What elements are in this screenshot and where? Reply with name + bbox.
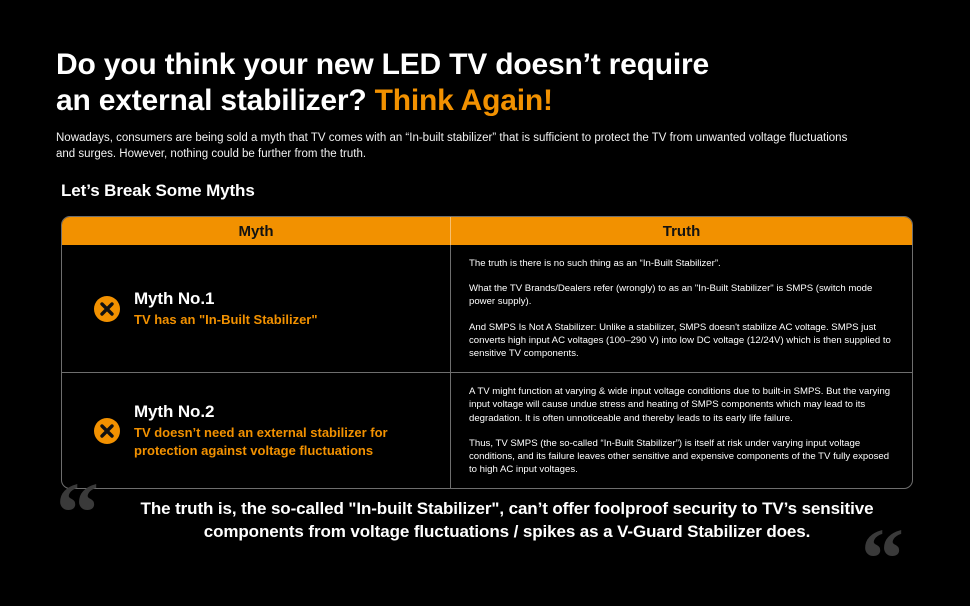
table-row: Myth No.2 TV doesn’t need an external st… — [62, 372, 912, 488]
truth-paragraph: And SMPS Is Not A Stabilizer: Unlike a s… — [469, 321, 898, 361]
intro-paragraph: Nowadays, consumers are being sold a myt… — [56, 130, 868, 162]
myth-text-block: Myth No.2 TV doesn’t need an external st… — [134, 401, 434, 460]
table-row: Myth No.1 TV has an "In-Built Stabilizer… — [62, 245, 912, 372]
myth-subtitle: TV doesn’t need an external stabilizer f… — [134, 424, 434, 460]
truth-paragraph: Thus, TV SMPS (the so-called “In-Built S… — [469, 437, 898, 477]
myth-title: Myth No.2 — [134, 401, 434, 422]
headline-accent: Think Again! — [375, 84, 553, 117]
table-header-row: Myth Truth — [62, 217, 912, 245]
column-header-truth: Truth — [451, 217, 912, 245]
truth-paragraph: What the TV Brands/Dealers refer (wrongl… — [469, 282, 898, 308]
myth-text-block: Myth No.1 TV has an "In-Built Stabilizer… — [134, 288, 318, 329]
headline-line-2-prefix: an external stabilizer? — [56, 84, 375, 117]
x-circle-icon — [94, 296, 120, 322]
myth-truth-table: Myth Truth Myth No.1 TV has an "In-Built… — [61, 216, 913, 489]
truth-cell: The truth is there is no such thing as a… — [451, 245, 912, 372]
headline-line-2: an external stabilizer? Think Again! — [56, 83, 906, 119]
quote-open-mark: “ — [56, 469, 99, 555]
column-header-myth: Myth — [62, 217, 451, 245]
quote-block: “ The truth is, the so-called "In-built … — [56, 485, 926, 585]
x-circle-icon — [94, 418, 120, 444]
section-heading: Let’s Break Some Myths — [61, 181, 255, 201]
myth-cell: Myth No.1 TV has an "In-Built Stabilizer… — [62, 245, 451, 372]
truth-cell: A TV might function at varying & wide in… — [451, 373, 912, 488]
quote-close-mark: “ — [861, 515, 904, 601]
myth-subtitle: TV has an "In-Built Stabilizer" — [134, 311, 318, 329]
truth-paragraph: The truth is there is no such thing as a… — [469, 257, 898, 270]
headline-line-1: Do you think your new LED TV doesn’t req… — [56, 47, 906, 83]
myth-cell: Myth No.2 TV doesn’t need an external st… — [62, 373, 451, 488]
truth-paragraph: A TV might function at varying & wide in… — [469, 385, 898, 425]
quote-text: The truth is, the so-called "In-built St… — [112, 497, 902, 543]
page-headline: Do you think your new LED TV doesn’t req… — [56, 47, 906, 119]
myth-title: Myth No.1 — [134, 288, 318, 309]
